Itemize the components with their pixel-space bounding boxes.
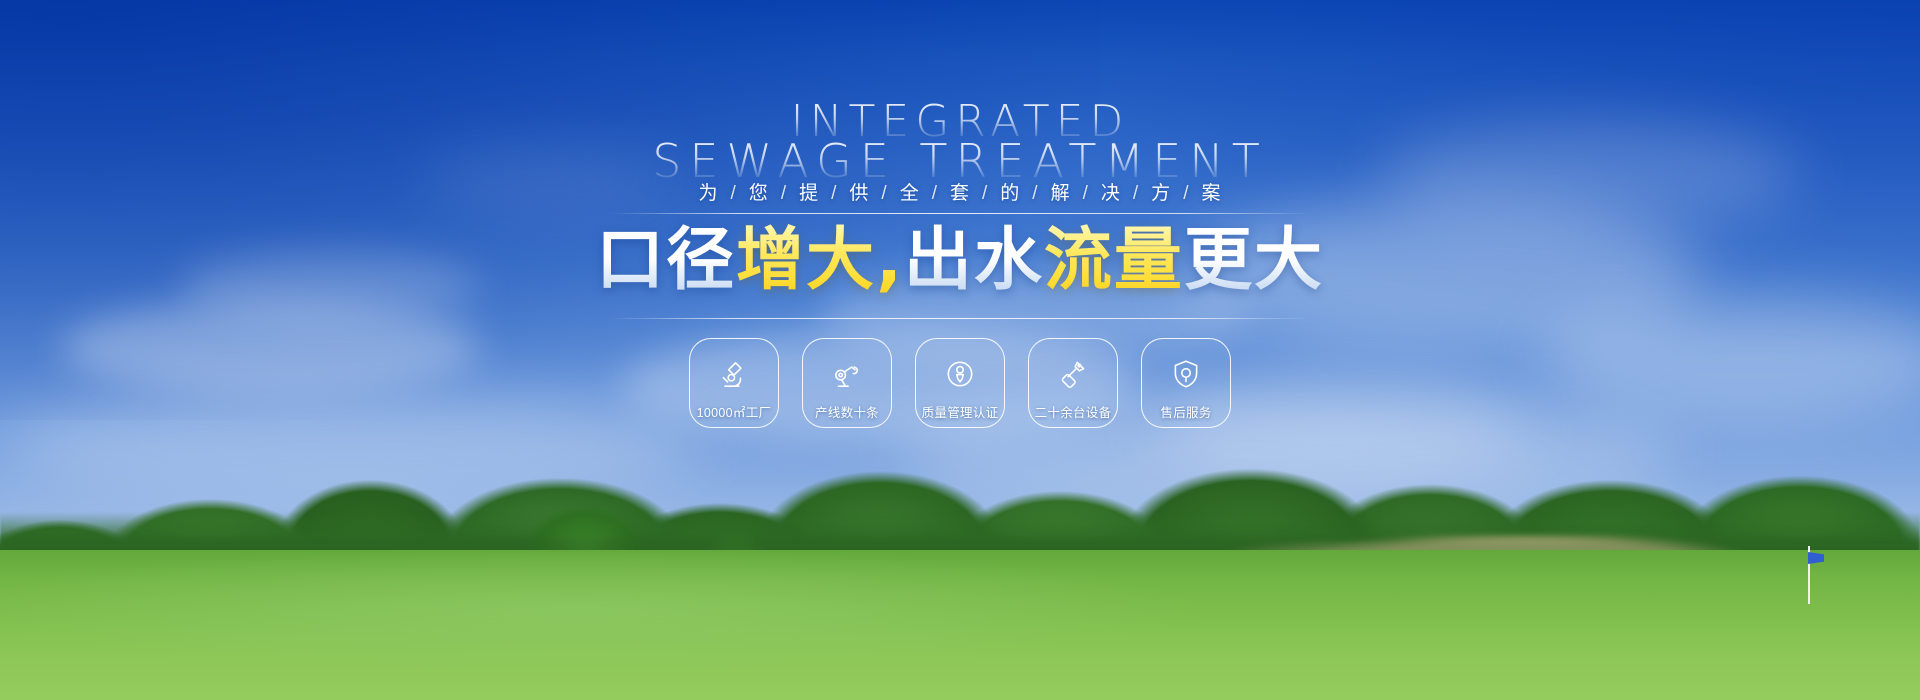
subtitle-char: 方 (1150, 178, 1172, 205)
subtitle-group: 为/您/提/供/全/套/的/解/决/方/案 (0, 178, 1920, 205)
subtitle-separator: / (1172, 183, 1200, 205)
subtitle-char: 解 (1050, 178, 1072, 205)
feature-badge-4[interactable]: 二十余台设备 (1028, 338, 1118, 428)
feature-badge-label: 二十余台设备 (1035, 402, 1112, 421)
subtitle-separator: / (1021, 183, 1049, 205)
headline-group: 口径增大,出水流量更大 (0, 227, 1920, 295)
subtitle-separator: / (770, 183, 798, 205)
subtitle-separator: / (1122, 183, 1150, 205)
headline-text: 口径增大,出水流量更大 (596, 227, 1324, 295)
feature-badge-1[interactable]: 10000㎡工厂 (689, 338, 779, 428)
shield-check-icon (1169, 357, 1203, 391)
production-line-icon (830, 357, 864, 391)
subtitle-char: 全 (899, 178, 921, 205)
subtitle-separator: / (820, 183, 848, 205)
subtitle-char: 案 (1200, 178, 1222, 205)
hero-banner: INTEGRATED SEWAGE TREATMENT 为/您/提/供/全/套/… (0, 0, 1920, 700)
headline-segment: 增大 (736, 221, 876, 300)
feature-badge-3[interactable]: 质量管理认证 (915, 338, 1005, 428)
feature-badge-label: 质量管理认证 (922, 402, 999, 421)
subtitle-char: 为 (698, 178, 720, 205)
divider-line-top (610, 213, 1310, 214)
headline-segment: 更大 (1184, 221, 1324, 300)
equipment-tool-icon (1056, 357, 1090, 391)
headline-segment: 出水 (904, 221, 1044, 300)
feature-badge-5[interactable]: 售后服务 (1141, 338, 1231, 428)
subtitle-text: 为/您/提/供/全/套/的/解/决/方/案 (698, 178, 1223, 205)
subtitle-separator: / (971, 183, 999, 205)
feature-badge-label: 10000㎡工厂 (697, 402, 772, 421)
subtitle-char: 决 (1100, 178, 1122, 205)
subtitle-char: 您 (748, 178, 770, 205)
subtitle-char: 提 (798, 178, 820, 205)
subtitle-separator: / (921, 183, 949, 205)
feature-badge-label: 产线数十条 (815, 402, 879, 421)
certificate-medal-icon (943, 357, 977, 391)
headline-segment: , (876, 221, 904, 300)
feature-badge-label: 售后服务 (1160, 402, 1211, 421)
english-heading-group: INTEGRATED SEWAGE TREATMENT (0, 100, 1920, 184)
divider-line-bottom (610, 318, 1310, 319)
subtitle-char: 供 (848, 178, 870, 205)
headline-segment: 口径 (596, 221, 736, 300)
subtitle-char: 的 (999, 178, 1021, 205)
feature-badge-list: 10000㎡工厂产线数十条质量管理认证二十余台设备售后服务 (689, 338, 1231, 428)
subtitle-separator: / (870, 183, 898, 205)
feature-badge-2[interactable]: 产线数十条 (802, 338, 892, 428)
subtitle-char: 套 (949, 178, 971, 205)
english-heading-line1: INTEGRATED (0, 100, 1920, 144)
headline-segment: 流量 (1044, 221, 1184, 300)
subtitle-separator: / (1072, 183, 1100, 205)
subtitle-separator: / (720, 183, 748, 205)
banner-content: INTEGRATED SEWAGE TREATMENT 为/您/提/供/全/套/… (0, 0, 1920, 700)
microscope-icon (717, 357, 751, 391)
